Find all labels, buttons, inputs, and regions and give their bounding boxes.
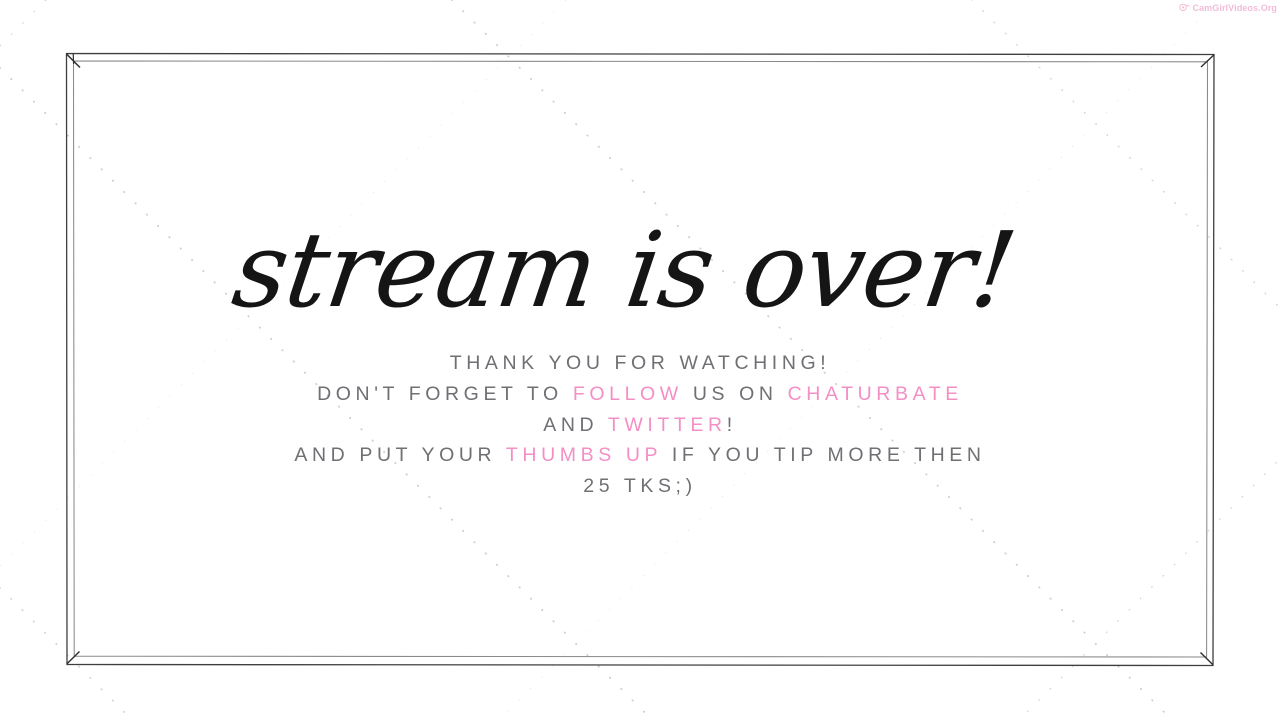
slide-canvas: stream is over! THANK YOU FOR WATCHING! … <box>0 0 1280 720</box>
subcopy-line-4: AND PUT YOUR THUMBS UP IF YOU TIP MORE T… <box>294 440 985 471</box>
watermark-label: CamGirlVideos.Org <box>1192 3 1277 13</box>
highlight-chaturbate[interactable]: CHATURBATE <box>788 383 963 405</box>
subcopy-text: AND <box>543 414 608 436</box>
subcopy-line-5: 25 TKS;) <box>294 471 985 502</box>
subcopy-block: THANK YOU FOR WATCHING! DON'T FORGET TO … <box>294 322 985 502</box>
subcopy-text: DON'T FORGET TO <box>317 383 573 405</box>
highlight-thumbs-up[interactable]: THUMBS UP <box>506 444 662 466</box>
subcopy-text: 25 TKS;) <box>583 475 696 497</box>
subcopy-text: US ON <box>683 383 788 405</box>
slide-content: stream is over! THANK YOU FOR WATCHING! … <box>0 0 1280 720</box>
highlight-follow[interactable]: FOLLOW <box>573 383 683 405</box>
subcopy-line-1: THANK YOU FOR WATCHING! <box>294 348 985 379</box>
subcopy-text: ! <box>727 414 737 436</box>
site-watermark: CamGirlVideos.Org <box>1179 2 1277 13</box>
headline-stream-is-over: stream is over! <box>228 0 1052 322</box>
highlight-twitter[interactable]: TWITTER <box>608 414 727 436</box>
camgirl-logo-icon <box>1179 2 1190 13</box>
subcopy-line-3: AND TWITTER! <box>294 410 985 441</box>
subcopy-text: IF YOU TIP MORE THEN <box>662 444 986 466</box>
subcopy-text: THANK YOU FOR WATCHING! <box>450 352 831 374</box>
subcopy-line-2: DON'T FORGET TO FOLLOW US ON CHATURBATE <box>294 379 985 410</box>
subcopy-text: AND PUT YOUR <box>294 444 506 466</box>
